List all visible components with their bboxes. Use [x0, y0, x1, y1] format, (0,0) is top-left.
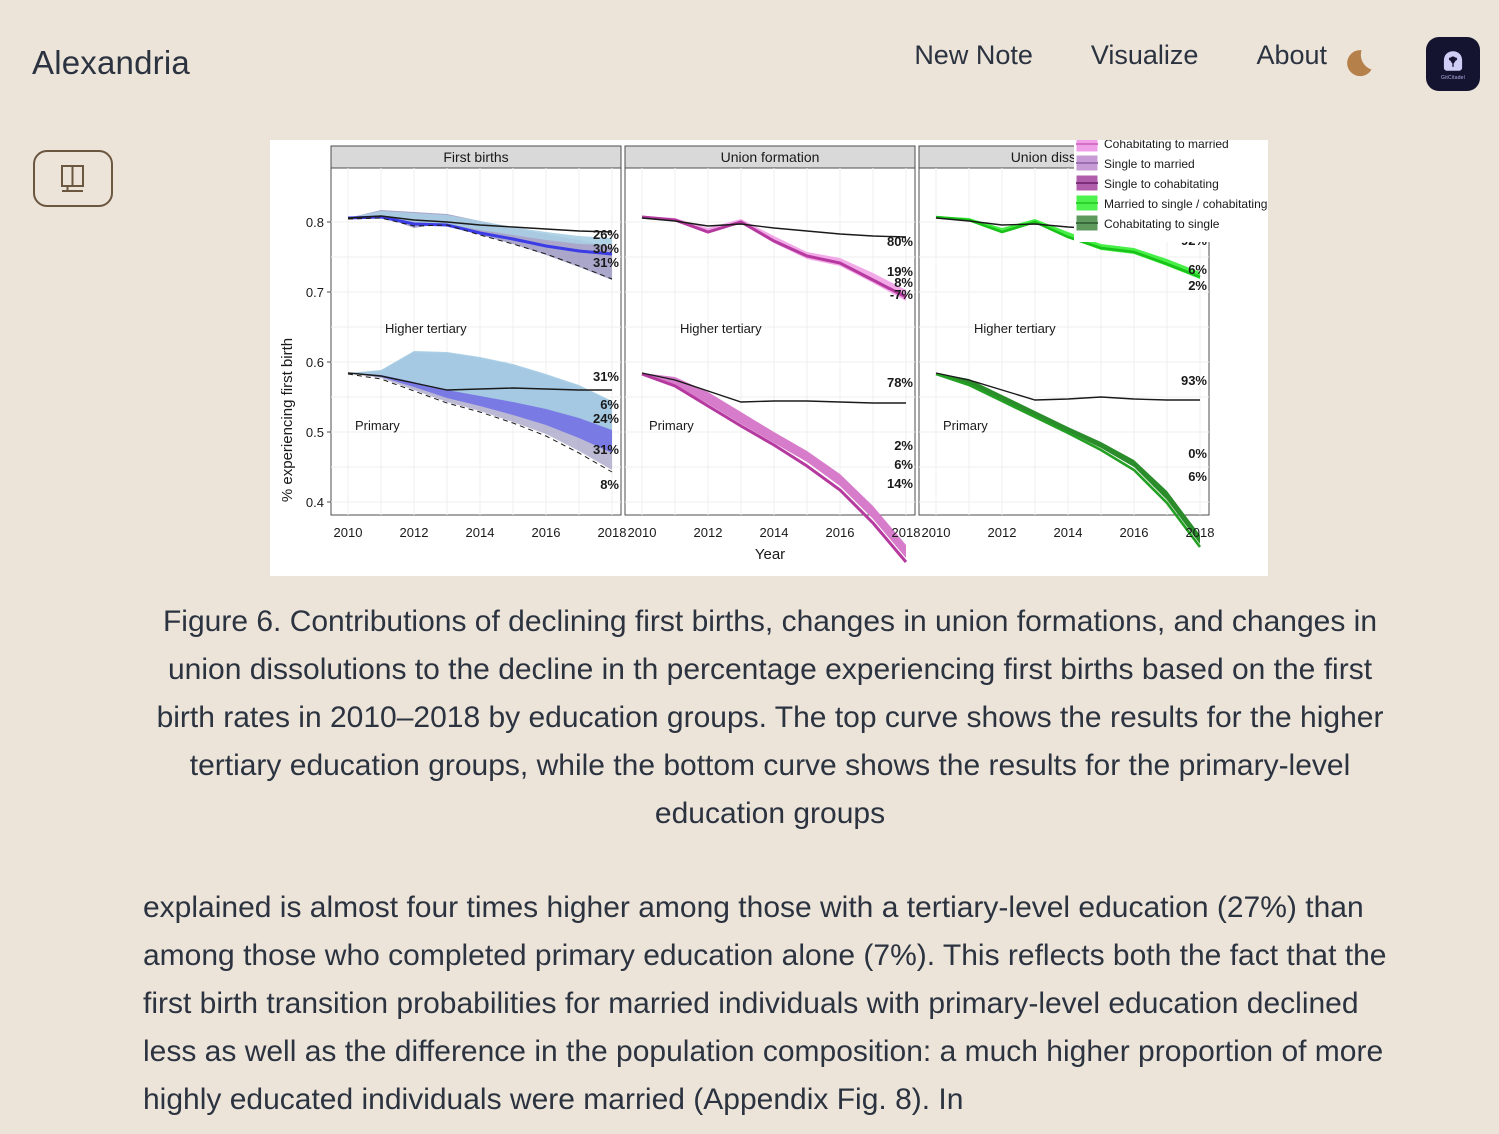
legend-label: Cohabitating to single: [1104, 217, 1220, 231]
x-tick-label: 2014: [466, 525, 495, 540]
annotation: 31%: [593, 255, 619, 270]
annotation: 80%: [887, 234, 913, 249]
annotation: 6%: [1188, 469, 1207, 484]
y-tick-label: 0.4: [306, 495, 324, 510]
group-label-tertiary: Higher tertiary: [974, 321, 1056, 336]
annotation: 78%: [887, 375, 913, 390]
group-label-tertiary: Higher tertiary: [385, 321, 467, 336]
annotation: 2%: [1188, 278, 1207, 293]
x-tick-label: 2016: [826, 525, 855, 540]
figure-image: % experiencing first birth 0.8 0.7 0.6 0…: [270, 140, 1268, 576]
x-tick-label: 2010: [922, 525, 951, 540]
theme-toggle-button[interactable]: [1339, 40, 1387, 88]
legend-label: Single to cohabitating: [1104, 177, 1219, 191]
panel-union-formation: Union formation: [625, 146, 920, 562]
annotation: 26%: [593, 227, 619, 242]
nav-new-note[interactable]: New Note: [914, 40, 1033, 71]
x-tick-label: 2010: [628, 525, 657, 540]
annotation: 8%: [600, 477, 619, 492]
y-tick-label: 0.7: [306, 285, 324, 300]
x-tick-label: 2014: [760, 525, 789, 540]
x-tick-label: 2012: [400, 525, 429, 540]
y-tick-label: 0.6: [306, 355, 324, 370]
annotation: 14%: [887, 476, 913, 491]
group-label-tertiary: Higher tertiary: [680, 321, 762, 336]
group-label-primary: Primary: [355, 418, 400, 433]
panel-first-births: First births: [331, 146, 626, 540]
group-label-primary: Primary: [943, 418, 988, 433]
x-tick-label: 2012: [988, 525, 1017, 540]
y-tick-label: 0.8: [306, 215, 324, 230]
x-tick-label: 2018: [598, 525, 627, 540]
annotation: 93%: [1181, 373, 1207, 388]
x-tick-label: 2014: [1054, 525, 1083, 540]
figure-caption: Figure 6. Contributions of declining fir…: [140, 598, 1400, 838]
annotation: 6%: [1188, 262, 1207, 277]
gitcitadel-logo[interactable]: GitCitadel: [1426, 37, 1480, 91]
annotation: 0%: [1188, 446, 1207, 461]
annotation: 31%: [593, 369, 619, 384]
legend-label: Married to single / cohabitating: [1104, 197, 1267, 211]
legend-label: Single to married: [1104, 157, 1195, 171]
y-axis-title: % experiencing first birth: [279, 338, 296, 502]
x-tick-label: 2016: [1120, 525, 1149, 540]
x-axis-title: Year: [755, 546, 785, 563]
annotation: 6%: [894, 457, 913, 472]
panel-title: First births: [443, 149, 508, 165]
logo-wordmark: GitCitadel: [1441, 75, 1465, 81]
annotation: 24%: [593, 411, 619, 426]
annotation: 30%: [593, 241, 619, 256]
panel-title: Union formation: [721, 149, 820, 165]
moon-icon: [1343, 44, 1383, 84]
x-tick-label: 2012: [694, 525, 723, 540]
chart-legend: Cohabitating to married Single to marrie…: [1074, 140, 1268, 242]
library-toggle-button[interactable]: [33, 150, 113, 207]
legend-label: Cohabitating to married: [1104, 140, 1229, 151]
annotation: 2%: [894, 438, 913, 453]
x-tick-label: 2018: [1186, 525, 1215, 540]
nav-links: New Note Visualize About: [914, 40, 1327, 71]
brand-title[interactable]: Alexandria: [32, 44, 190, 82]
citadel-shield-icon: [1440, 48, 1466, 74]
book-icon: [59, 164, 87, 194]
y-tick-label: 0.5: [306, 425, 324, 440]
group-label-primary: Primary: [649, 418, 694, 433]
first-birth-decomposition-chart: % experiencing first birth 0.8 0.7 0.6 0…: [270, 140, 1268, 576]
annotation: 6%: [600, 397, 619, 412]
nav-about[interactable]: About: [1256, 40, 1327, 71]
x-tick-label: 2010: [334, 525, 363, 540]
nav-visualize[interactable]: Visualize: [1091, 40, 1199, 71]
annotation: 31%: [593, 442, 619, 457]
annotation: -7%: [890, 287, 914, 302]
x-tick-label: 2018: [892, 525, 921, 540]
body-paragraph: explained is almost four times higher am…: [143, 884, 1388, 1124]
x-tick-label: 2016: [532, 525, 561, 540]
top-navbar: Alexandria New Note Visualize About GitC…: [0, 0, 1499, 128]
